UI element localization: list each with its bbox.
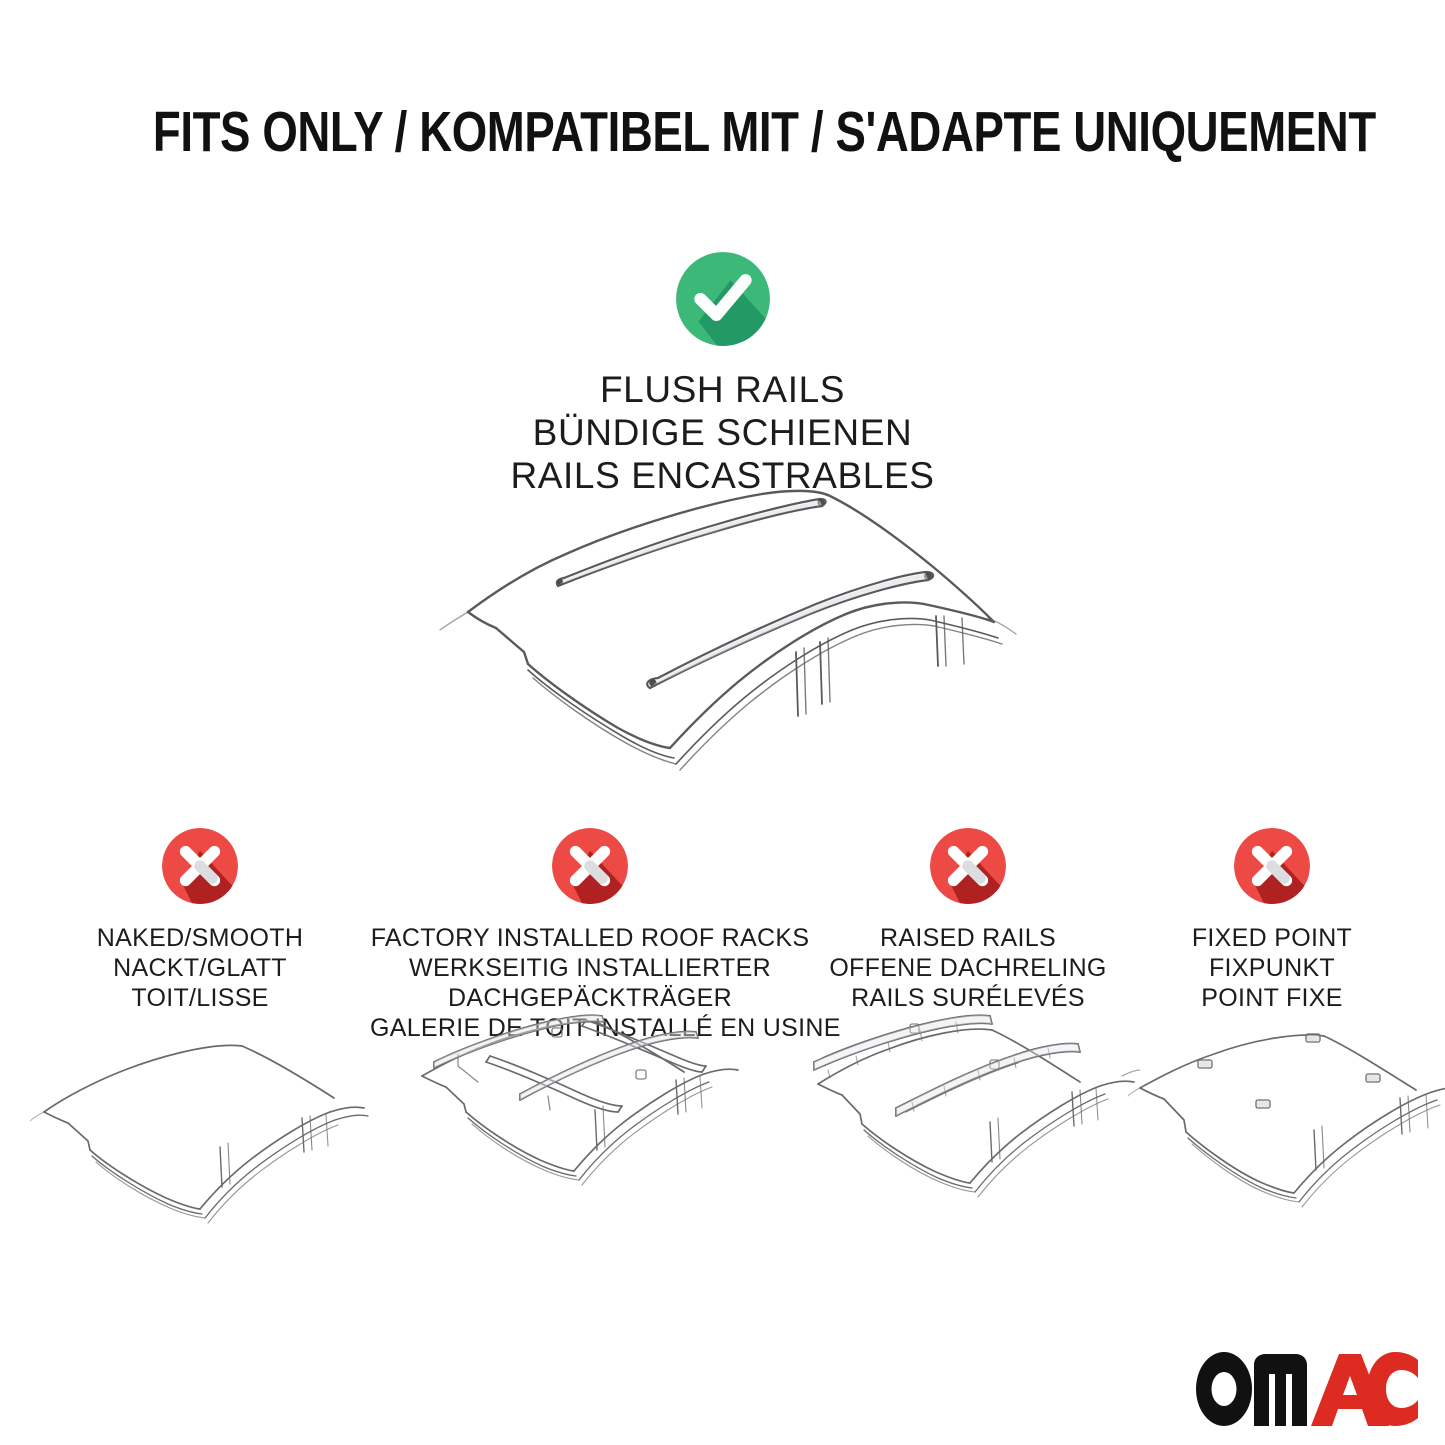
- car-roof-naked-smooth-illustration: [30, 1022, 370, 1237]
- incompatible-label-line-2: FIXPUNKT: [1130, 953, 1414, 983]
- check-circle-icon: [676, 252, 770, 346]
- car-roof-fixed-point-illustration: [1128, 1030, 1445, 1245]
- x-circle-icon: [552, 828, 628, 904]
- incompatible-label: RAISED RAILS OFFENE DACHRELING RAILS SUR…: [818, 923, 1118, 1013]
- incompatible-label-line-3: POINT FIXE: [1130, 983, 1414, 1013]
- compatible-label-line-1: FLUSH RAILS: [0, 369, 1445, 412]
- incompatible-label-line-1: NAKED/SMOOTH: [40, 923, 360, 953]
- incompatible-label-line-1: FIXED POINT: [1130, 923, 1414, 953]
- incompatible-label-line-1: RAISED RAILS: [818, 923, 1118, 953]
- incompatible-label: FIXED POINT FIXPUNKT POINT FIXE: [1130, 923, 1414, 1013]
- incompatible-item-raised-rails: RAISED RAILS OFFENE DACHRELING RAILS SUR…: [818, 828, 1118, 1013]
- car-roof-factory-racks-illustration: [400, 1000, 740, 1215]
- page-title-text: FITS ONLY / KOMPATIBEL MIT / S'ADAPTE UN…: [153, 104, 1376, 161]
- x-circle-icon: [162, 828, 238, 904]
- incompatible-label: NAKED/SMOOTH NACKT/GLATT TOIT/LISSE: [40, 923, 360, 1013]
- incompatible-label-line-2: OFFENE DACHRELING: [818, 953, 1118, 983]
- compatible-section: FLUSH RAILS BÜNDIGE SCHIENEN RAILS ENCAS…: [0, 252, 1445, 498]
- compatible-label-line-2: BÜNDIGE SCHIENEN: [0, 412, 1445, 455]
- incompatible-label-line-1: FACTORY INSTALLED ROOF RACKS: [370, 923, 810, 953]
- x-circle-icon: [1234, 828, 1310, 904]
- page-title: FITS ONLY / KOMPATIBEL MIT / S'ADAPTE UN…: [0, 104, 1445, 161]
- incompatible-label-line-2: WERKSEITIG INSTALLIERTER: [370, 953, 810, 983]
- incompatible-item-naked-smooth: NAKED/SMOOTH NACKT/GLATT TOIT/LISSE: [40, 828, 360, 1013]
- incompatible-label-line-3: RAILS SURÉLEVÉS: [818, 983, 1118, 1013]
- incompatible-label-line-3: TOIT/LISSE: [40, 983, 360, 1013]
- omac-logo: [1196, 1352, 1418, 1426]
- car-roof-raised-rails-illustration: [800, 1012, 1140, 1227]
- x-circle-icon: [930, 828, 1006, 904]
- incompatible-label-line-2: NACKT/GLATT: [40, 953, 360, 983]
- incompatible-item-fixed-point: FIXED POINT FIXPUNKT POINT FIXE: [1130, 828, 1414, 1013]
- car-roof-flush-rails-illustration: [432, 466, 1032, 796]
